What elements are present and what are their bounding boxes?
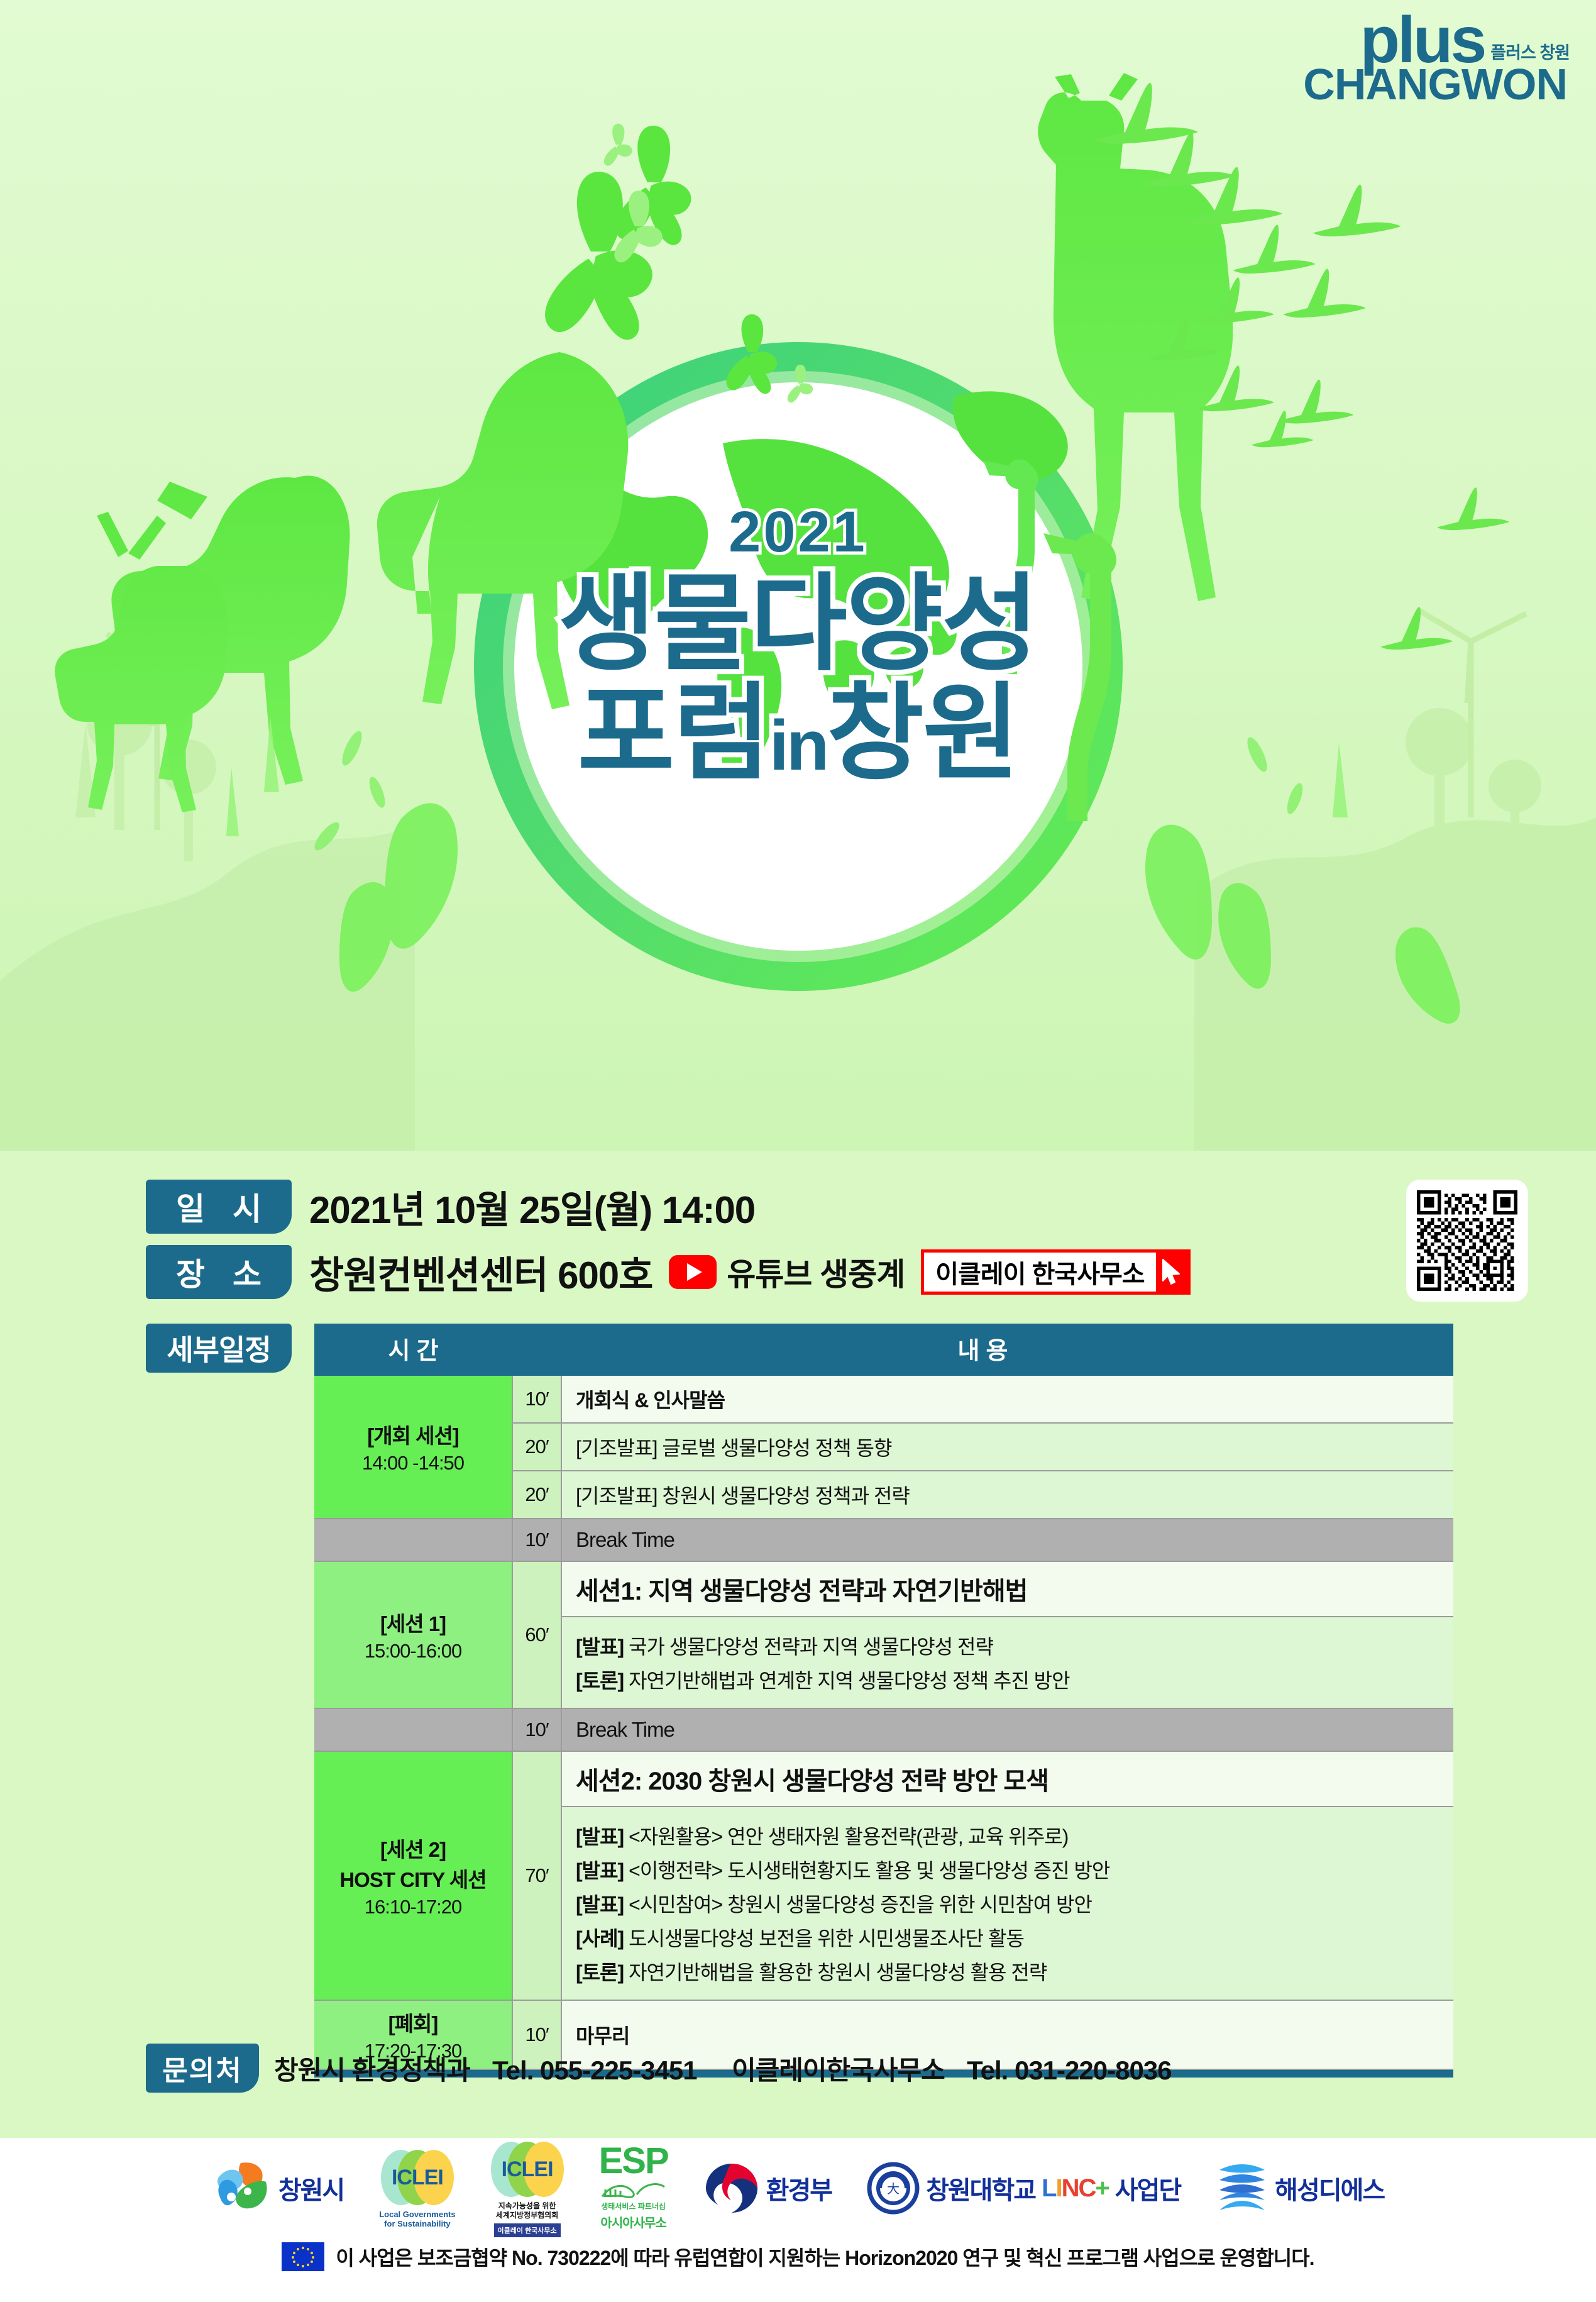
logo-changwon-city-label: 창원시 xyxy=(278,2170,344,2206)
session-title: [세션 1] xyxy=(317,1607,509,1637)
partner-logos: 창원시 ICLEI Local Governmentsfor Sustainab… xyxy=(0,2138,1596,2238)
content-cell: [기조발표] 글로벌 생물다양성 정책 동향 xyxy=(561,1423,1453,1471)
schedule-label: 세부일정 xyxy=(146,1324,292,1373)
date-label-char-2: 시 xyxy=(233,1184,261,1229)
session-title: [개회 세션] xyxy=(317,1419,509,1449)
eu-funding-text: 이 사업은 보조금협약 No. 730222에 따라 유럽연합이 지원하는 Ho… xyxy=(336,2242,1314,2271)
logo-iclei-tagline: Local Governmentsfor Sustainability xyxy=(379,2210,455,2229)
content-lead: [발표] xyxy=(576,1893,624,1916)
content-lead: [사례] xyxy=(576,1927,624,1950)
title-in: in xyxy=(769,706,827,785)
contact-details: 창원시 환경정책과 Tel. 055-225-3451 이클레이한국사무소 Te… xyxy=(274,2049,1172,2088)
contact-label: 문의처 xyxy=(146,2044,259,2093)
session-heading: 세션1: 지역 생물다양성 전략과 자연기반해법 xyxy=(576,1578,1027,1605)
contact-tel-2: Tel. 031-220-8036 xyxy=(967,2056,1171,2085)
content-line: [토론] 자연기반해법을 활용한 창원시 생물다양성 활용 전략 xyxy=(576,1957,1439,1986)
eu-funding-notice: 이 사업은 보조금협약 No. 730222에 따라 유럽연합이 지원하는 Ho… xyxy=(0,2242,1596,2271)
title-year: 2021 xyxy=(0,503,1596,561)
content-cell: [발표] <자원활용> 연안 생태자원 활용전략(관광, 교육 위주로) [발표… xyxy=(561,1807,1453,2000)
changwon-university-seal-icon: 大 xyxy=(867,2162,920,2215)
session-cell-session-2: [세션 2] HOST CITY 세션 16:10-17:20 xyxy=(314,1751,512,2000)
logo-haesung-ds: 해성디에스 xyxy=(1216,2161,1384,2215)
content-text: 도시생물다양성 보전을 위한 시민생물조사단 활동 xyxy=(624,1927,1024,1950)
content-lead: [발표] xyxy=(576,1635,624,1658)
iclei-korea-mark-icon: ICLEI xyxy=(491,2139,564,2200)
place-row: 장 소 창원컨벤션센터 600호 유튜브 생중계 이클레이 한국사무소 xyxy=(146,1245,1191,1299)
esp-wordmark: ESP xyxy=(599,2145,668,2176)
content-text: <자원활용> 연안 생태자원 활용전략(관광, 교육 위주로) xyxy=(624,1825,1068,1848)
session-subtitle: HOST CITY 세션 xyxy=(317,1863,509,1893)
session-cell-break xyxy=(314,1708,512,1751)
content-cell: [발표] 국가 생물다양성 전략과 지역 생물다양성 전략 [토론] 자연기반해… xyxy=(561,1617,1453,1708)
changwon-city-emblem-icon xyxy=(212,2159,272,2217)
session-period: 14:00 -14:50 xyxy=(317,1452,509,1475)
duration-cell: 10′ xyxy=(512,1708,561,1751)
logo-esp: ESP 생태서비스 파트너십 아시아사무소 xyxy=(599,2145,668,2230)
duration-cell: 10′ xyxy=(512,1376,561,1423)
logo-changwon-city: 창원시 xyxy=(212,2159,344,2217)
logo-esp-office: 아시아사무소 xyxy=(600,2213,666,2231)
logo-changwon-university-linc: 大 창원대학교 LINC+ 사업단 xyxy=(867,2162,1180,2215)
content-cell: [기조발표] 창원시 생물다양성 정책과 전략 xyxy=(561,1471,1453,1519)
table-header-row: 시간 내용 xyxy=(314,1324,1453,1376)
date-row: 일 시 2021년 10월 25일(월) 14:00 xyxy=(146,1180,1191,1234)
logo-linc-suffix: 사업단 xyxy=(1115,2170,1180,2206)
logo-esp-tagline: 생태서비스 파트너십 xyxy=(601,2201,666,2211)
logo-changwon-university-label: 창원대학교 xyxy=(926,2170,1035,2206)
contact-section: 문의처 창원시 환경정책과 Tel. 055-225-3451 이클레이한국사무… xyxy=(146,2044,1172,2093)
plus-changwon-logo: plus플러스 창원 CHANGWON xyxy=(1303,14,1570,104)
youtube-play-icon xyxy=(669,1255,717,1289)
table-row-break: 10′ Break Time xyxy=(314,1708,1453,1751)
place-value: 창원컨벤션센터 600호 xyxy=(309,1245,652,1300)
place-label-char-2: 소 xyxy=(233,1249,261,1295)
logo-iclei-korea-badge: 이클레이 한국사무소 xyxy=(494,2223,561,2237)
title-line-2: 포럼in창원 xyxy=(0,674,1596,792)
schedule-body: [개회 세션] 14:00 -14:50 10′ 개회식 & 인사말씀 20′ … xyxy=(314,1376,1453,2069)
column-header-content: 내용 xyxy=(512,1324,1453,1376)
logo-linc-label: LINC+ xyxy=(1042,2174,1109,2203)
content-text: 자연기반해법을 활용한 창원시 생물다양성 활용 전략 xyxy=(624,1961,1047,1984)
content-cell: Break Time xyxy=(561,1519,1453,1561)
title-changwon: 창원 xyxy=(827,674,1018,792)
youtube-channel-name: 이클레이 한국사무소 xyxy=(924,1253,1155,1292)
content-cell: Break Time xyxy=(561,1708,1453,1751)
place-label: 장 소 xyxy=(146,1245,292,1299)
content-cell-header: 세션2: 2030 창원시 생물다양성 전략 방안 모색 xyxy=(561,1751,1453,1807)
session-cell-opening: [개회 세션] 14:00 -14:50 xyxy=(314,1376,512,1519)
duration-cell: 20′ xyxy=(512,1471,561,1519)
contact-tel-1: Tel. 055-225-3451 xyxy=(492,2056,696,2085)
schedule-table-wrapper: 시간 내용 [개회 세션] 14:00 -14:50 10′ 개회식 & 인사말… xyxy=(314,1324,1453,2078)
logo-iclei-korea: ICLEI 지속가능성을 위한세계지방정부협의회 이클레이 한국사무소 xyxy=(491,2139,564,2237)
content-text: <시민참여> 창원시 생물다양성 증진을 위한 시민참여 방안 xyxy=(624,1893,1092,1916)
content-text: [기조발표] 창원시 생물다양성 정책과 전략 xyxy=(576,1485,910,1507)
content-lead: [발표] xyxy=(576,1825,624,1848)
table-row: [세션 1] 15:00-16:00 60′ 세션1: 지역 생물다양성 전략과… xyxy=(314,1561,1453,1617)
qr-code xyxy=(1417,1190,1517,1291)
iclei-wordmark: ICLEI xyxy=(392,2166,443,2190)
date-label-char-1: 일 xyxy=(176,1184,205,1229)
logo-ministry-label: 환경부 xyxy=(766,2170,832,2206)
content-line: [사례] 도시생물다양성 보전을 위한 시민생물조사단 활동 xyxy=(576,1923,1439,1952)
contact-org-1: 창원시 환경정책과 xyxy=(274,2056,470,2085)
haesung-ds-mark-icon xyxy=(1216,2161,1269,2215)
content-text: 개회식 & 인사말씀 xyxy=(576,1389,725,1412)
duration-cell: 10′ xyxy=(512,1519,561,1561)
table-row: [세션 2] HOST CITY 세션 16:10-17:20 70′ 세션2:… xyxy=(314,1751,1453,1807)
event-info: 일 시 2021년 10월 25일(월) 14:00 장 소 창원컨벤션센터 6… xyxy=(146,1180,1191,1310)
table-row-break: 10′ Break Time xyxy=(314,1519,1453,1561)
content-text: <이행전략> 도시생태현황지도 활용 및 생물다양성 증진 방안 xyxy=(624,1859,1109,1882)
content-cell: 개회식 & 인사말씀 xyxy=(561,1376,1453,1423)
eu-flag-icon xyxy=(282,2242,324,2271)
title-forum: 포럼 xyxy=(578,674,769,792)
content-text: 국가 생물다양성 전략과 지역 생물다양성 전략 xyxy=(624,1635,993,1658)
brand-changwon-text: CHANGWON xyxy=(1303,65,1567,104)
duration-cell: 70′ xyxy=(512,1751,561,2000)
schedule-table: 시간 내용 [개회 세션] 14:00 -14:50 10′ 개회식 & 인사말… xyxy=(314,1324,1453,2070)
poster-title: 2021 생물다양성 포럼in창원 xyxy=(0,503,1596,792)
session-cell-session-1: [세션 1] 15:00-16:00 xyxy=(314,1561,512,1708)
column-header-time: 시간 xyxy=(314,1324,512,1376)
session-title: [폐회] xyxy=(317,2007,509,2037)
iclei-korea-wordmark: ICLEI xyxy=(502,2157,553,2182)
esp-leaf-icon xyxy=(599,2178,668,2200)
youtube-live-group: 유튜브 생중계 xyxy=(669,1249,905,1295)
logo-iclei-korea-tagline: 지속가능성을 위한세계지방정부협의회 xyxy=(496,2201,558,2220)
date-value: 2021년 10월 25일(월) 14:00 xyxy=(309,1180,755,1234)
title-line-1: 생물다양성 xyxy=(0,565,1596,683)
content-text: [기조발표] 글로벌 생물다양성 정책 동향 xyxy=(576,1437,891,1459)
logo-haesung-ds-label: 해성디에스 xyxy=(1275,2170,1384,2206)
content-line: [발표] <시민참여> 창원시 생물다양성 증진을 위한 시민참여 방안 xyxy=(576,1889,1439,1918)
duration-cell: 20′ xyxy=(512,1423,561,1471)
content-line: [토론] 자연기반해법과 연계한 지역 생물다양성 정책 추진 방안 xyxy=(576,1665,1439,1694)
contact-org-2: 이클레이한국사무소 xyxy=(732,2056,945,2085)
youtube-channel-button[interactable]: 이클레이 한국사무소 xyxy=(921,1249,1190,1295)
session-period: 16:10-17:20 xyxy=(317,1896,509,1918)
iclei-mark-icon: ICLEI xyxy=(381,2147,454,2208)
table-row: [개회 세션] 14:00 -14:50 10′ 개회식 & 인사말씀 xyxy=(314,1376,1453,1423)
duration-cell: 60′ xyxy=(512,1561,561,1708)
mouse-cursor-icon xyxy=(1156,1253,1187,1292)
content-lead: [발표] xyxy=(576,1859,624,1882)
content-text: 자연기반해법과 연계한 지역 생물다양성 정책 추진 방안 xyxy=(624,1669,1069,1692)
poster-root: plus플러스 창원 CHANGWON 2021 생물다양성 포럼in창원 일 … xyxy=(0,0,1596,2302)
session-title: [세션 2] xyxy=(317,1833,509,1863)
content-cell-header: 세션1: 지역 생물다양성 전략과 자연기반해법 xyxy=(561,1561,1453,1617)
content-lead: [토론] xyxy=(576,1961,624,1984)
content-line: [발표] <자원활용> 연안 생태자원 활용전략(관광, 교육 위주로) xyxy=(576,1821,1439,1850)
qr-code-container[interactable] xyxy=(1406,1180,1528,1302)
date-label: 일 시 xyxy=(146,1180,292,1234)
taegeuk-icon xyxy=(703,2161,760,2215)
content-lead: [토론] xyxy=(576,1669,624,1692)
youtube-live-label: 유튜브 생중계 xyxy=(727,1249,905,1295)
svg-text:大: 大 xyxy=(887,2182,900,2196)
place-label-char-1: 장 xyxy=(176,1249,205,1295)
logo-iclei: ICLEI Local Governmentsfor Sustainabilit… xyxy=(379,2147,455,2229)
logo-ministry-of-environment: 환경부 xyxy=(703,2161,832,2215)
session-period: 15:00-16:00 xyxy=(317,1640,509,1663)
session-cell-break xyxy=(314,1519,512,1561)
content-line: [발표] 국가 생물다양성 전략과 지역 생물다양성 전략 xyxy=(576,1631,1439,1660)
content-line: [발표] <이행전략> 도시생태현황지도 활용 및 생물다양성 증진 방안 xyxy=(576,1855,1439,1884)
session-heading: 세션2: 2030 창원시 생물다양성 전략 방안 모색 xyxy=(576,1768,1048,1795)
